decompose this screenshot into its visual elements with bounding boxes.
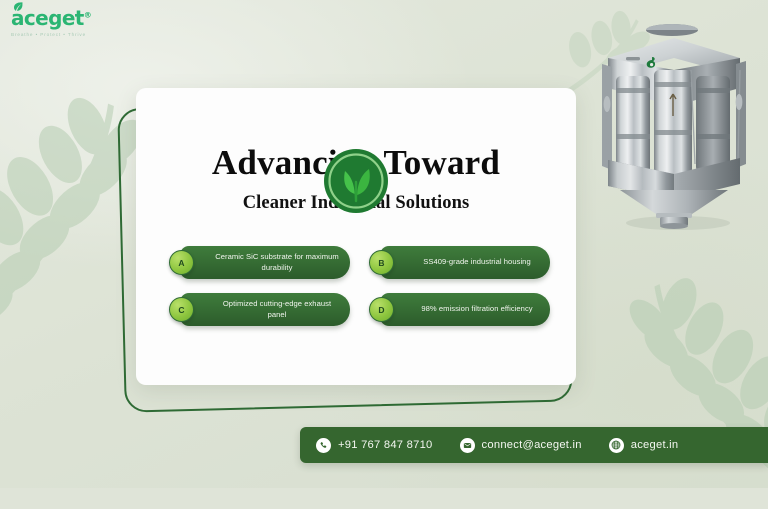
feature-pill: 98% emission filtration efficiency: [380, 293, 550, 326]
feature-badge-c: C: [169, 297, 194, 322]
feature-label: Optimized cutting-edge exhaust panel: [214, 299, 340, 320]
brand-tagline: Breathe • Protect • Thrive: [11, 32, 91, 37]
feature-label: 98% emission filtration efficiency: [421, 304, 532, 314]
feature-pill: Ceramic SiC substrate for maximum durabi…: [180, 246, 350, 279]
contact-website[interactable]: aceget.in: [609, 438, 679, 453]
feature-label: SS409-grade industrial housing: [423, 257, 530, 267]
sprout-leaf-circle-icon: [323, 148, 389, 214]
product-image-industrial-filtration-unit: [590, 14, 762, 232]
feature-item-d[interactable]: 98% emission filtration efficiency D: [366, 293, 550, 326]
feature-pill: Optimized cutting-edge exhaust panel: [180, 293, 350, 326]
phone-icon: [316, 438, 331, 453]
email-address: connect@aceget.in: [482, 439, 582, 451]
feature-label: Ceramic SiC substrate for maximum durabi…: [214, 252, 340, 273]
feature-item-b[interactable]: SS409-grade industrial housing B: [366, 246, 550, 279]
leaf-icon: [12, 1, 24, 13]
feature-badge-d: D: [369, 297, 394, 322]
envelope-icon: [460, 438, 475, 453]
feature-list: Ceramic SiC substrate for maximum durabi…: [166, 246, 550, 326]
feature-badge-a: A: [169, 250, 194, 275]
contact-bar: +91 767 847 8710 connect@aceget.in acege…: [300, 427, 768, 463]
website-url: aceget.in: [631, 439, 679, 451]
main-card: Advancing Toward Cleaner Industrial Solu…: [136, 88, 576, 385]
contact-phone[interactable]: +91 767 847 8710: [316, 438, 433, 453]
brand-logo[interactable]: aceget® Breathe • Protect • Thrive: [11, 8, 91, 37]
fern-branch-icon-right: [606, 261, 768, 509]
phone-number: +91 767 847 8710: [338, 439, 433, 451]
contact-email[interactable]: connect@aceget.in: [460, 438, 582, 453]
globe-icon: [609, 438, 624, 453]
feature-pill: SS409-grade industrial housing: [380, 246, 550, 279]
brand-wordmark: aceget®: [11, 8, 91, 28]
registered-mark: ®: [84, 10, 91, 19]
feature-item-c[interactable]: Optimized cutting-edge exhaust panel C: [166, 293, 350, 326]
feature-badge-b: B: [369, 250, 394, 275]
feature-item-a[interactable]: Ceramic SiC substrate for maximum durabi…: [166, 246, 350, 279]
